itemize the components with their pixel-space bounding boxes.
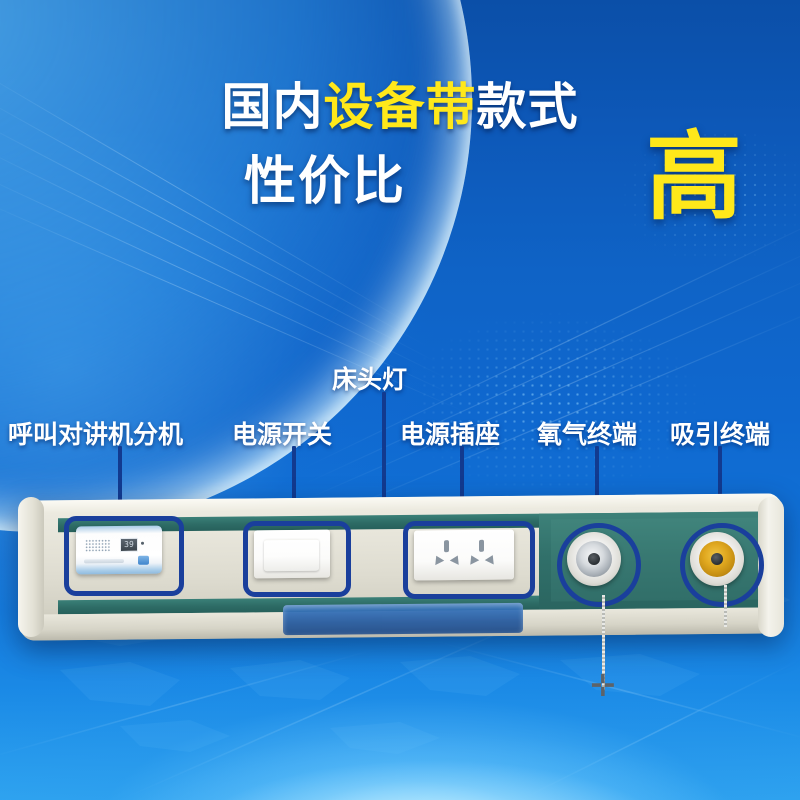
bed-lamp-diffuser[interactable] — [283, 603, 523, 635]
callout-label-bed-lamp[interactable]: 床头灯 — [332, 360, 407, 396]
halftone-dots-decor — [420, 300, 750, 490]
highlight-box-power-switch — [243, 521, 351, 597]
headline-part-white-2: 款式 — [477, 79, 579, 135]
pull-cord-handle-icon[interactable]: ✛ — [588, 672, 618, 702]
panel-endcap-left — [18, 497, 44, 637]
callout-layer: 呼叫对讲机分机 电源开关 床头灯 电源插座 氧气终端 吸引终端 — [0, 0, 800, 800]
callout-label-power-switch[interactable]: 电源开关 — [232, 415, 332, 451]
highlight-ring-suction-terminal — [680, 523, 764, 607]
pull-cord-chain-secondary[interactable] — [724, 585, 727, 627]
headline-block: 国内设备带款式 性价比 — [0, 82, 800, 208]
headline-part-yellow: 设备带 — [324, 79, 477, 135]
globe-rim — [0, 0, 472, 532]
headline-primary: 国内设备带款式 — [0, 82, 800, 132]
halftone-dots-decor-2 — [600, 120, 800, 270]
emphasis-character: 高 — [646, 130, 742, 226]
highlight-ring-oxygen-terminal — [557, 523, 641, 607]
headline-secondary: 性价比 — [0, 156, 800, 208]
headline-part-white-1: 国内 — [222, 79, 324, 135]
banner-stage: 国内设备带款式 性价比 高 呼叫对讲机分机 电源开关 床头灯 电源插座 氧气终端… — [0, 0, 800, 800]
panel-top-edge — [18, 493, 784, 513]
highlight-box-nurse-call — [64, 516, 184, 596]
callout-label-suction-terminal[interactable]: 吸引终端 — [670, 415, 770, 451]
callout-label-oxygen-terminal[interactable]: 氧气终端 — [537, 415, 637, 451]
light-rays-icon — [0, 0, 800, 800]
highlight-box-power-socket — [403, 521, 535, 599]
callout-label-power-socket[interactable]: 电源插座 — [400, 415, 500, 451]
callout-label-nurse-call[interactable]: 呼叫对讲机分机 — [8, 415, 183, 451]
